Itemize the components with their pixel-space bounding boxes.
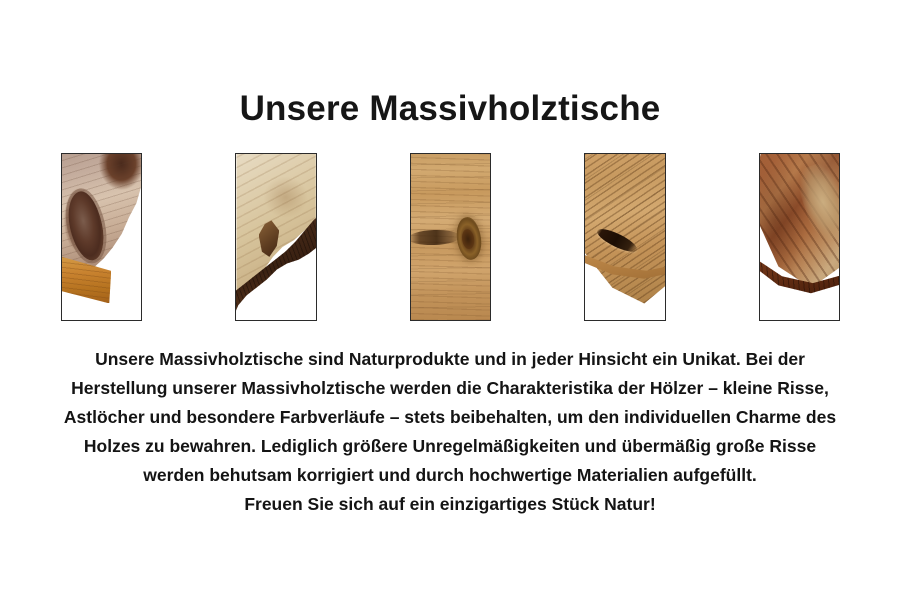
description-text: Unsere Massivholztische sind Naturproduk… xyxy=(0,345,900,519)
description-line-4: Holzes zu bewahren. Lediglich größere Un… xyxy=(0,432,900,461)
photo-gallery xyxy=(21,137,880,305)
gallery-photo-4[interactable] xyxy=(584,153,665,321)
rough-sawn-plank-with-crack-image xyxy=(585,154,664,320)
description-line-5: werden behutsam korrigiert und durch hoc… xyxy=(0,461,900,490)
wood-grain-with-central-knot-image xyxy=(411,154,490,320)
description-line-2: Herstellung unserer Massivholztische wer… xyxy=(0,374,900,403)
description-line-6: Freuen Sie sich auf ein einzigartiges St… xyxy=(0,490,900,519)
gallery-photo-5[interactable] xyxy=(759,153,840,321)
description-line-1: Unsere Massivholztische sind Naturproduk… xyxy=(0,345,900,374)
live-edge-corner-with-knot-image xyxy=(62,154,141,320)
pale-wood-with-dark-bark-edge-image xyxy=(236,154,315,320)
description-line-3: Astlöcher und besondere Farbverläufe – s… xyxy=(0,403,900,432)
page-title: Unsere Massivholztische xyxy=(0,87,900,131)
gallery-photo-1[interactable] xyxy=(61,153,142,321)
gallery-photo-3[interactable] xyxy=(410,153,491,321)
gallery-photo-2[interactable] xyxy=(235,153,316,321)
sheesham-corner-flowing-grain-image xyxy=(760,154,839,320)
